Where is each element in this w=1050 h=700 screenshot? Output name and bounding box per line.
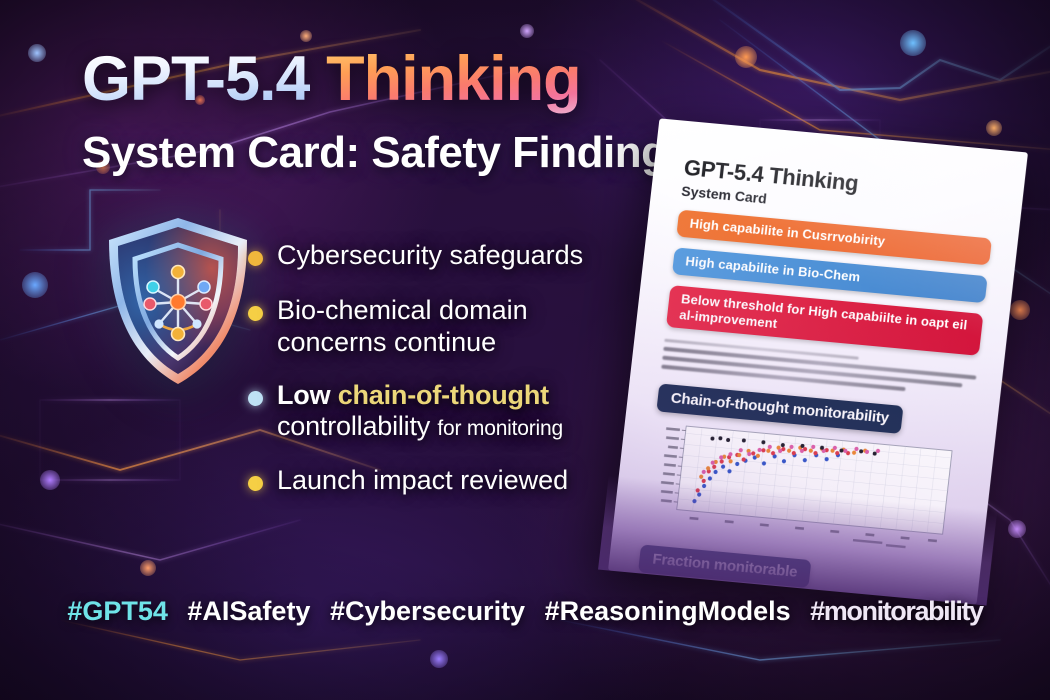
bullet-text: Cybersecurity safeguards <box>277 240 583 271</box>
list-item: Launch impact reviewed <box>248 465 648 496</box>
bullet-dot <box>248 391 263 406</box>
system-card-document: GPT-5.4 Thinking System Card High capabi… <box>608 118 1028 604</box>
list-item: Bio-chemical domain concerns continue <box>248 295 648 358</box>
title-model-name: GPT-5.4 <box>82 44 310 114</box>
hashtag-cybersecurity: #Cybersecurity <box>330 596 525 626</box>
hashtag-aisafety: #AISafety <box>187 596 310 626</box>
bullet-line2-main: controllability <box>277 411 430 441</box>
page-subtitle: System Card: Safety Findings <box>82 130 742 176</box>
cot-monitorability-chart <box>643 420 968 560</box>
bullet-dot <box>248 306 263 321</box>
list-item: Low chain-of-thought controllability for… <box>248 380 648 443</box>
title-thinking: Thinking <box>326 44 580 114</box>
bullet-text-line1: Bio-chemical domain <box>277 295 528 326</box>
bullet-dot <box>248 251 263 266</box>
bullet-text-line2: controllability for monitoring <box>277 411 563 442</box>
list-item: Cybersecurity safeguards <box>248 240 648 271</box>
bullet-text-line1: Low chain-of-thought <box>277 380 563 411</box>
bullet-list: Cybersecurity safeguards Bio-chemical do… <box>248 240 648 513</box>
hashtag-gpt54: #GPT54 <box>67 596 168 626</box>
shield-network-icon <box>97 212 259 390</box>
hashtag-monitorability: #monitorability <box>810 596 983 626</box>
bullet-highlight: chain-of-thought <box>338 380 549 410</box>
page-title: GPT-5.4 Thinking <box>82 48 722 111</box>
bullet-text: Launch impact reviewed <box>277 465 568 496</box>
hashtag-row: #GPT54 #AISafety #Cybersecurity #Reasoni… <box>0 596 1050 627</box>
hashtag-reasoningmodels: #ReasoningModels <box>545 596 791 626</box>
bullet-line2-sub: for monitoring <box>437 417 563 440</box>
bullet-dot <box>248 476 263 491</box>
bullet-lead: Low <box>277 380 330 410</box>
bullet-text-line2: concerns continue <box>277 327 528 358</box>
